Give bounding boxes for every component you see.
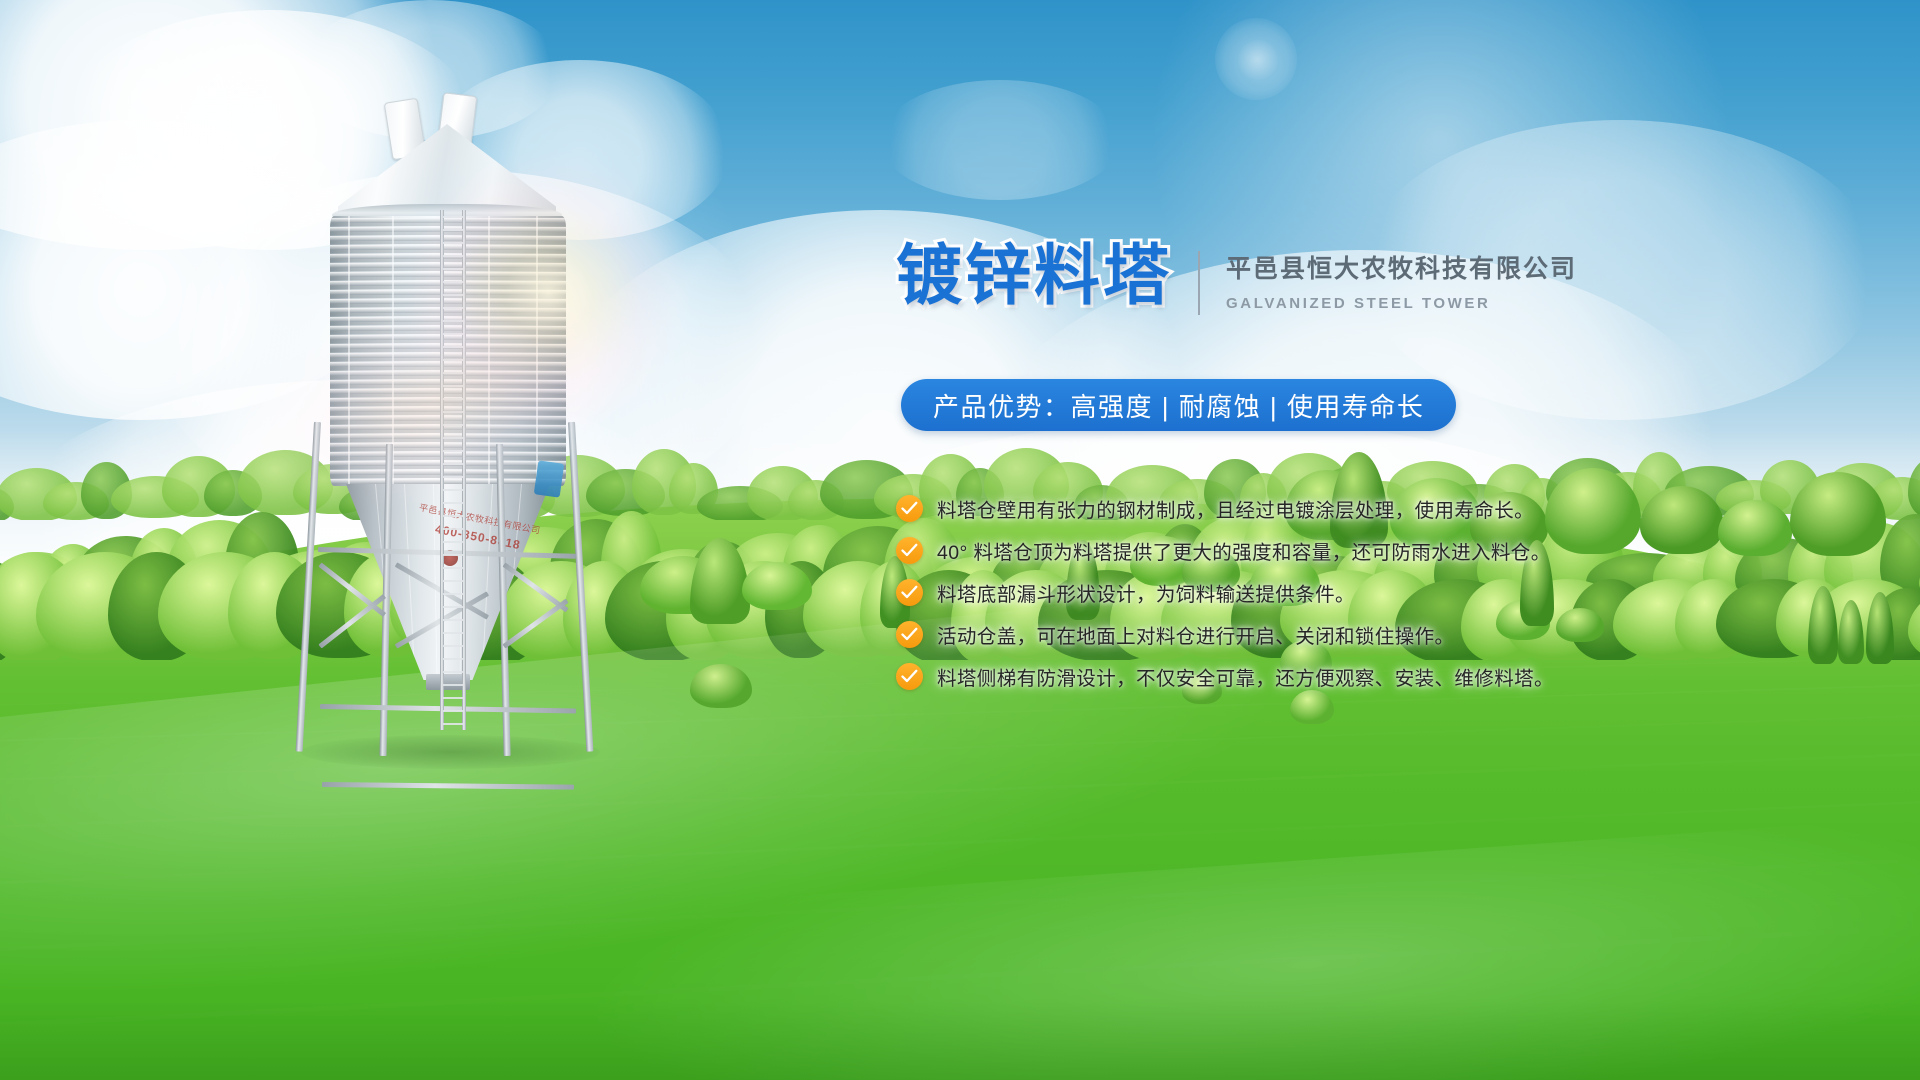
shrub — [690, 664, 752, 708]
silo-blue-panel — [534, 460, 564, 497]
ladder-rung — [443, 359, 463, 361]
sun-core — [1238, 40, 1278, 80]
ladder-rung — [443, 294, 463, 296]
ladder-rung — [443, 229, 463, 231]
ladder-rung — [443, 255, 463, 257]
ladder-rung — [443, 346, 463, 348]
ladder-rung — [443, 450, 463, 452]
ladder-rung — [443, 424, 463, 426]
ladder-rung — [443, 515, 463, 517]
company-block: 平邑县恒大农牧科技有限公司 GALVANIZED STEEL TOWER — [1226, 243, 1577, 312]
advantage-badge[interactable]: 产品优势：高强度 | 耐腐蚀 | 使用寿命长 — [901, 379, 1456, 431]
feature-item: 活动仓盖，可在地面上对料仓进行开启、关闭和锁住操作。 — [896, 613, 1616, 655]
advantage-badge-label: 产品优势：高强度 | 耐腐蚀 | 使用寿命长 — [933, 387, 1424, 424]
ladder-rung — [443, 723, 463, 725]
ladder-rung — [443, 242, 463, 244]
title-divider — [1198, 251, 1200, 315]
silo-cross-brace — [318, 563, 386, 617]
ladder-rung — [443, 307, 463, 309]
feature-list: 料塔仓壁用有张力的钢材制成，且经过电镀涂层处理，使用寿命长。40° 料塔仓顶为料… — [896, 487, 1616, 697]
feature-item: 料塔底部漏斗形状设计，为饲料输送提供条件。 — [896, 571, 1616, 613]
ladder-rung — [443, 320, 463, 322]
ladder-rung — [443, 411, 463, 413]
check-circle-icon — [896, 663, 923, 690]
ladder-rung — [443, 528, 463, 530]
silo-side-ladder — [440, 210, 466, 730]
ladder-rail — [462, 210, 466, 730]
feature-text: 40° 料塔仓顶为料塔提供了更大的强度和容量，还可防雨水进入料仓。 — [937, 536, 1551, 565]
ladder-rung — [443, 372, 463, 374]
check-circle-icon — [896, 495, 923, 522]
check-circle-icon — [896, 579, 923, 606]
ladder-rung — [443, 476, 463, 478]
ladder-rung — [443, 658, 463, 660]
feature-item: 40° 料塔仓顶为料塔提供了更大的强度和容量，还可防雨水进入料仓。 — [896, 529, 1616, 571]
ladder-rung — [443, 398, 463, 400]
ladder-rung — [443, 216, 463, 218]
ladder-rung — [443, 593, 463, 595]
ladder-rung — [443, 268, 463, 270]
feature-text: 料塔侧梯有防滑设计，不仅安全可靠，还方便观察、安装、维修料塔。 — [937, 662, 1554, 691]
feature-item: 料塔侧梯有防滑设计，不仅安全可靠，还方便观察、安装、维修料塔。 — [896, 655, 1616, 697]
feature-text: 活动仓盖，可在地面上对料仓进行开启、关闭和锁住操作。 — [937, 620, 1454, 649]
company-name: 平邑县恒大农牧科技有限公司 — [1226, 249, 1577, 285]
silo-vertical-seam — [536, 216, 538, 486]
silo-vertical-seam — [488, 216, 490, 486]
ladder-rung — [443, 671, 463, 673]
ladder-rung — [443, 710, 463, 712]
silo-cross-brace — [318, 594, 386, 648]
silo-leg — [568, 422, 593, 752]
ladder-rung — [443, 697, 463, 699]
silo-leg — [296, 422, 321, 752]
ladder-rung — [443, 567, 463, 569]
ladder-rung — [443, 463, 463, 465]
silo-vertical-seam — [348, 216, 350, 486]
company-subtitle-en: GALVANIZED STEEL TOWER — [1226, 295, 1577, 312]
feature-item: 料塔仓壁用有张力的钢材制成，且经过电镀涂层处理，使用寿命长。 — [896, 487, 1616, 529]
ladder-rung — [443, 554, 463, 556]
ladder-rung — [443, 281, 463, 283]
ladder-rung — [443, 333, 463, 335]
banner-canvas: 平邑县恒大农牧科技有限公司 400-850-8818 镀锌料塔 平邑县恒大农牧科… — [0, 0, 1920, 1080]
feature-text: 料塔底部漏斗形状设计，为饲料输送提供条件。 — [937, 578, 1355, 607]
ladder-rung — [443, 489, 463, 491]
feature-text: 料塔仓壁用有张力的钢材制成，且经过电镀涂层处理，使用寿命长。 — [937, 494, 1534, 523]
grass-foreground-shadow — [0, 1000, 1920, 1080]
ladder-rung — [443, 632, 463, 634]
ladder-rung — [443, 385, 463, 387]
check-circle-icon — [896, 537, 923, 564]
ladder-rung — [443, 437, 463, 439]
ladder-rung — [443, 684, 463, 686]
ladder-rail — [440, 210, 444, 730]
silo-cone-seam — [404, 484, 415, 680]
title-row: 镀锌料塔 平邑县恒大农牧科技有限公司 GALVANIZED STEEL TOWE… — [896, 243, 1577, 315]
silo-cross-brace — [503, 599, 569, 649]
ladder-rung — [443, 606, 463, 608]
cloud — [880, 80, 1120, 200]
check-circle-icon — [896, 621, 923, 648]
ladder-rung — [443, 645, 463, 647]
ladder-rung — [443, 541, 463, 543]
ladder-rung — [443, 619, 463, 621]
product-image-silo[interactable]: 平邑县恒大农牧科技有限公司 400-850-8818 — [300, 92, 600, 752]
page-title: 镀锌料塔 — [896, 243, 1172, 309]
ladder-rung — [443, 502, 463, 504]
ladder-rung — [443, 580, 463, 582]
